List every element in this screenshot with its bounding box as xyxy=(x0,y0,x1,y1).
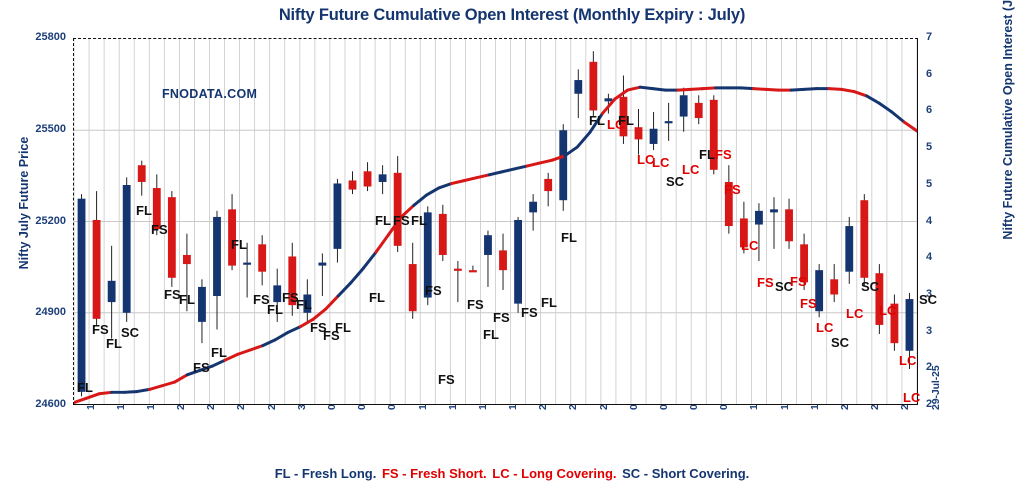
candle-annotation-fl: FL xyxy=(77,381,93,394)
candle-annotation-fl: FL xyxy=(375,214,391,227)
legend-sc: SC - Short Covering. xyxy=(622,466,749,481)
candle-annotation-fl: FL xyxy=(618,114,634,127)
y-tick-right: 4 xyxy=(926,215,932,227)
candle-annotation-fl: FL xyxy=(136,204,152,217)
candle-annotation-lc: LC xyxy=(816,321,833,334)
candle-annotation-fl: FL xyxy=(369,291,385,304)
candle-annotation-fs: FS xyxy=(493,311,510,324)
candle-annotation-fl: FL xyxy=(296,298,312,311)
candle-annotation-fl: FL xyxy=(411,214,427,227)
candle-annotation-fl: FL xyxy=(483,328,499,341)
candle-annotation-lc: LC xyxy=(652,156,669,169)
candle-annotation-fs: FS xyxy=(92,323,109,336)
legend-fs: FS - Fresh Short. xyxy=(382,466,487,481)
candle-annotation-fs: FS xyxy=(715,148,732,161)
y-tick-left: 25800 xyxy=(0,31,66,43)
candle-annotation-fs: FS xyxy=(800,297,817,310)
candle-annotation-lc: LC xyxy=(741,239,758,252)
candle-annotation-fl: FL xyxy=(179,293,195,306)
y-tick-right: 5 xyxy=(926,141,932,153)
y-tick-left: 24600 xyxy=(0,398,66,410)
candle-annotation-fl: FL xyxy=(267,303,283,316)
plot-area: FLFSFLSCFLFSFSFLFSFLFLFSFLFSFLFSFSFLFLFL… xyxy=(73,38,918,405)
candle-annotation-fs: FS xyxy=(151,223,168,236)
x-tick-label: 29-Jul-25 xyxy=(930,365,942,410)
legend-fl: FL - Fresh Long. xyxy=(275,466,377,481)
y-tick-right: 6 xyxy=(926,104,932,116)
y-tick-left: 24900 xyxy=(0,306,66,318)
candle-annotation-lc: LC xyxy=(903,391,920,404)
candle-annotation-sc: SC xyxy=(831,336,849,349)
y-tick-left: 25500 xyxy=(0,123,66,135)
y-tick-left: 25200 xyxy=(0,215,66,227)
page-title: Nifty Future Cumulative Open Interest (M… xyxy=(0,6,1024,25)
candle-annotation-fl: FL xyxy=(699,148,715,161)
candle-annotation-fl: FL xyxy=(561,231,577,244)
candle-annotation-fs: FS xyxy=(393,214,410,227)
candle-annotation-fl: FL xyxy=(106,337,122,350)
candle-annotation-lc: LC xyxy=(846,307,863,320)
candle-annotation-fs: FS xyxy=(757,276,774,289)
candle-annotation-fl: FL xyxy=(541,296,557,309)
candle-annotation-fs: FS xyxy=(438,373,455,386)
candle-annotation-fs: FS xyxy=(521,306,538,319)
y-tick-right: 4 xyxy=(926,251,932,263)
candle-annotation-fl: FL xyxy=(211,346,227,359)
candle-annotation-sc: SC xyxy=(919,293,937,306)
y-tick-right: 7 xyxy=(926,31,932,43)
candle-annotation-fs: FS xyxy=(790,275,807,288)
candle-annotation-lc: LC xyxy=(879,304,896,317)
watermark: FNODATA.COM xyxy=(162,87,257,101)
candle-annotation-lc: LC xyxy=(899,354,916,367)
candle-annotation-lc: LC xyxy=(682,163,699,176)
y-tick-right: 3 xyxy=(926,325,932,337)
y-axis-right-title: Nifty Future Cumulative Open Interest (J… xyxy=(1001,0,1015,265)
y-tick-right: 6 xyxy=(926,68,932,80)
candle-annotation-sc: SC xyxy=(121,326,139,339)
y-axis-left-title: Nifty July Future Price xyxy=(17,83,31,323)
candle-annotation-fl: FL xyxy=(231,238,247,251)
chart-root: Nifty Future Cumulative Open Interest (M… xyxy=(0,0,1024,489)
legend-lc: LC - Long Covering. xyxy=(492,466,616,481)
candle-annotation-fs: FS xyxy=(724,183,741,196)
candle-annotation-fs: FS xyxy=(425,284,442,297)
candle-annotation-sc: SC xyxy=(861,280,879,293)
candle-annotation-fl: FL xyxy=(335,321,351,334)
candle-annotation-fs: FS xyxy=(467,298,484,311)
legend: FL - Fresh Long. FS - Fresh Short. LC - … xyxy=(0,466,1024,481)
y-tick-right: 5 xyxy=(926,178,932,190)
candle-annotation-fl: FL xyxy=(589,114,605,127)
candle-annotation-fs: FS xyxy=(193,361,210,374)
